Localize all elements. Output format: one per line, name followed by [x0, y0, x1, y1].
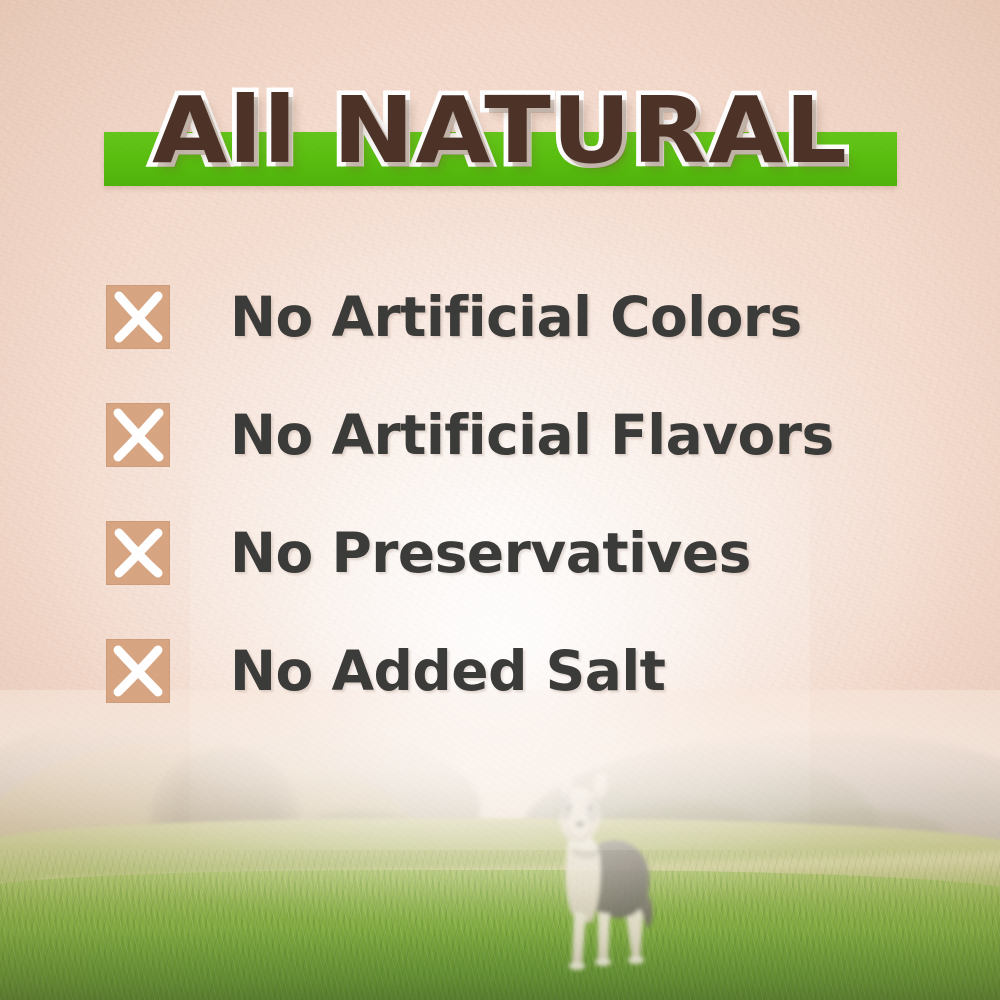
- product-claims-banner: All NATURAL No Artificial Colors: [0, 0, 1000, 1000]
- claim-label: No Added Salt: [230, 641, 665, 701]
- headline-text: All NATURAL: [0, 72, 1000, 190]
- claim-row: No Artificial Flavors: [106, 376, 926, 494]
- x-mark-icon: [106, 285, 170, 349]
- claim-row: No Preservatives: [106, 494, 926, 612]
- x-mark-icon: [106, 639, 170, 703]
- claim-row: No Artificial Colors: [106, 258, 926, 376]
- x-mark-icon: [106, 521, 170, 585]
- x-mark-icon: [106, 403, 170, 467]
- headline-block: All NATURAL: [0, 72, 1000, 200]
- claim-row: No Added Salt: [106, 612, 926, 730]
- claim-label: No Artificial Colors: [230, 287, 802, 347]
- claim-label: No Artificial Flavors: [230, 405, 834, 465]
- claims-list: No Artificial Colors No Artificial Flavo…: [106, 258, 926, 730]
- claim-label: No Preservatives: [230, 523, 751, 583]
